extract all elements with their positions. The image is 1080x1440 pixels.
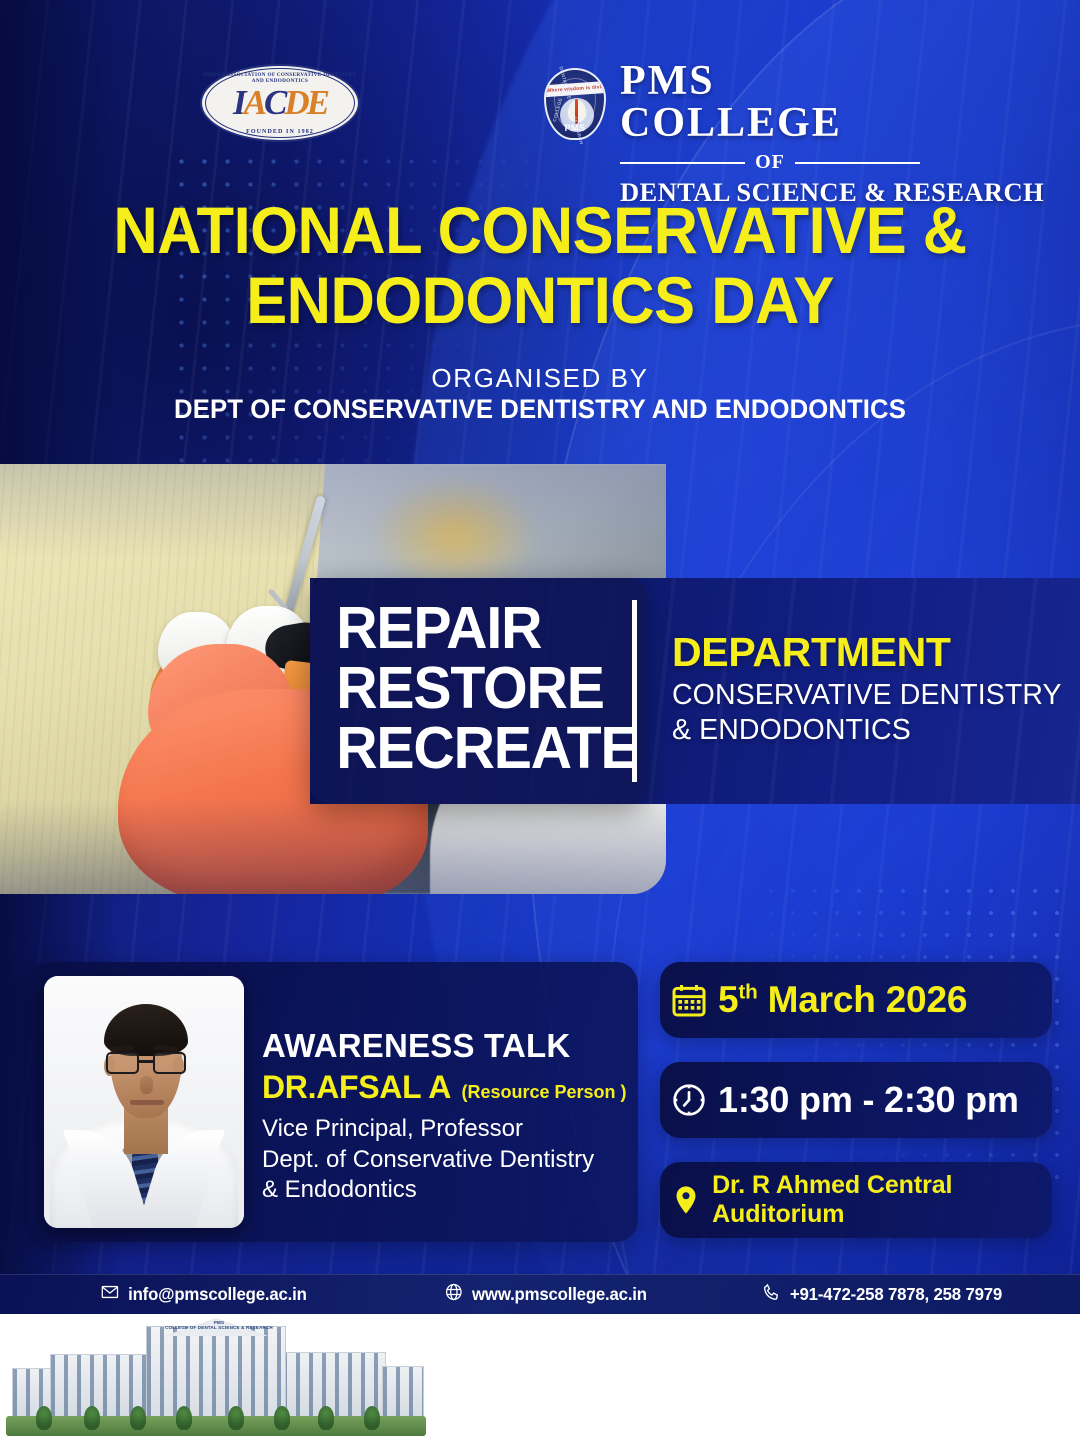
event-date-value: 5th March 2026 <box>718 979 967 1021</box>
department-sub-line-1: CONSERVATIVE DENTISTRY <box>672 678 1072 713</box>
pms-arc-right: DENTAL SCIENCE & RESEARCH <box>558 66 584 145</box>
slogan-text: REPAIR RESTORE RECREATE <box>336 598 611 779</box>
tree <box>318 1406 334 1430</box>
tree <box>274 1406 290 1430</box>
tree <box>36 1406 52 1430</box>
contact-bar: info@pmscollege.ac.in www.pmscollege.ac.… <box>0 1274 1080 1314</box>
iacde-monogram: IACDE <box>200 85 360 120</box>
speaker-name: DR.AFSAL A <box>262 1069 451 1105</box>
college-of-label: OF <box>755 151 785 174</box>
tree <box>176 1406 192 1430</box>
lens-right <box>153 1052 186 1074</box>
clock-icon <box>660 1080 718 1120</box>
pms-arc-left: COLLEGE OF <box>552 89 565 123</box>
designation-line-1: Vice Principal, Professor <box>262 1114 642 1144</box>
department-heading: DEPARTMENT <box>672 632 1072 674</box>
building-signage-line2: COLLEGE OF DENTAL SCIENCE & RESEARCH <box>164 1325 274 1330</box>
event-venue-card: Dr. R Ahmed Central Auditorium <box>660 1162 1052 1238</box>
building-trees <box>6 1404 426 1430</box>
phone-icon <box>762 1282 781 1307</box>
pms-crest-icon: Where wisdom is divine PMS COLLEGE OF DE… <box>538 66 612 144</box>
department-sub-line-2: & ENDODONTICS <box>672 713 1072 748</box>
college-of-row: OF <box>620 151 920 174</box>
event-venue-value: Dr. R Ahmed Central Auditorium <box>712 1171 1052 1229</box>
event-poster: INDIAN ASSOCIATION OF CONSERVATIVE DENTI… <box>0 0 1080 1440</box>
slogan-line-2: RESTORE <box>336 658 611 718</box>
contact-email[interactable]: info@pmscollege.ac.in <box>100 1282 306 1307</box>
slogan-line-3: RECREATE <box>336 718 611 778</box>
globe-icon <box>444 1282 463 1307</box>
contact-website[interactable]: www.pmscollege.ac.in <box>444 1282 647 1307</box>
pms-crest-arc-text: COLLEGE OF DENTAL SCIENCE & RESEARCH <box>543 69 607 143</box>
speaker-designation: Vice Principal, Professor Dept. of Conse… <box>262 1114 642 1205</box>
department-text-block: DEPARTMENT CONSERVATIVE DENTISTRY & ENDO… <box>672 632 1072 747</box>
rule-left <box>620 162 745 164</box>
college-name-block: PMS COLLEGE OF DENTAL SCIENCE & RESEARCH <box>620 60 920 206</box>
poster-title: NATIONAL CONSERVATIVE & ENDODONTICS DAY <box>0 196 1080 336</box>
event-date-suffix: th <box>738 981 757 1004</box>
glasses-bridge <box>139 1060 153 1063</box>
poster-footer: PMS COLLEGE OF DENTAL SCIENCE & RESEARCH… <box>0 1314 1080 1440</box>
contact-phone[interactable]: +91-472-258 7878, 258 7979 <box>762 1282 1002 1307</box>
envelope-icon <box>100 1282 119 1307</box>
title-line-2: ENDODONTICS DAY <box>38 266 1042 336</box>
designation-line-2: Dept. of Conservative Dentistry <box>262 1145 642 1175</box>
college-building-photo: PMS COLLEGE OF DENTAL SCIENCE & RESEARCH <box>6 1318 426 1438</box>
tree <box>364 1406 380 1430</box>
tree <box>84 1406 100 1430</box>
event-time-card: 1:30 pm - 2:30 pm <box>660 1062 1052 1138</box>
department-subtext: CONSERVATIVE DENTISTRY & ENDODONTICS <box>672 678 1072 748</box>
speaker-portrait <box>44 976 244 1228</box>
contact-phone-text: +91-472-258 7878, 258 7979 <box>790 1284 1002 1305</box>
eyeglasses-icon <box>106 1052 186 1074</box>
lens-left <box>106 1052 139 1074</box>
awareness-talk-label: AWARENESS TALK <box>262 1028 642 1064</box>
iacde-arc-bottom-text: FOUNDED IN 1982 <box>200 129 360 135</box>
calendar-icon <box>660 980 718 1020</box>
vertical-divider <box>632 600 637 782</box>
iacde-logo: INDIAN ASSOCIATION OF CONSERVATIVE DENTI… <box>200 64 360 142</box>
slogan-box: REPAIR RESTORE RECREATE <box>310 578 645 804</box>
speaker-details: AWARENESS TALK DR.AFSAL A (Resource Pers… <box>262 1028 642 1206</box>
speaker-name-row: DR.AFSAL A (Resource Person ) <box>262 1069 642 1106</box>
location-pin-icon <box>660 1183 712 1217</box>
event-time-value: 1:30 pm - 2:30 pm <box>718 1079 1019 1121</box>
contact-email-text: info@pmscollege.ac.in <box>128 1284 307 1305</box>
designation-line-3: & Endodontics <box>262 1175 642 1205</box>
speaker-role: (Resource Person ) <box>461 1082 626 1102</box>
rule-right <box>795 162 920 164</box>
contact-website-text: www.pmscollege.ac.in <box>472 1284 647 1305</box>
portrait-nose <box>140 1076 153 1094</box>
organised-by-label: ORGANISED BY <box>0 363 1080 394</box>
portrait-mouth <box>130 1100 164 1105</box>
tree <box>130 1406 146 1430</box>
building-signage: PMS COLLEGE OF DENTAL SCIENCE & RESEARCH <box>164 1320 274 1330</box>
organising-department: DEPT OF CONSERVATIVE DENTISTRY AND ENDOD… <box>16 394 1064 425</box>
event-date-day: 5 <box>718 979 738 1020</box>
college-name-line1: PMS COLLEGE <box>620 60 920 144</box>
event-date-card: 5th March 2026 <box>660 962 1052 1038</box>
slogan-line-1: REPAIR <box>336 598 611 658</box>
poster-header: INDIAN ASSOCIATION OF CONSERVATIVE DENTI… <box>0 26 1080 146</box>
title-line-1: NATIONAL CONSERVATIVE & <box>38 196 1042 266</box>
event-date-month-year: March 2026 <box>758 979 968 1020</box>
tree <box>228 1406 244 1430</box>
